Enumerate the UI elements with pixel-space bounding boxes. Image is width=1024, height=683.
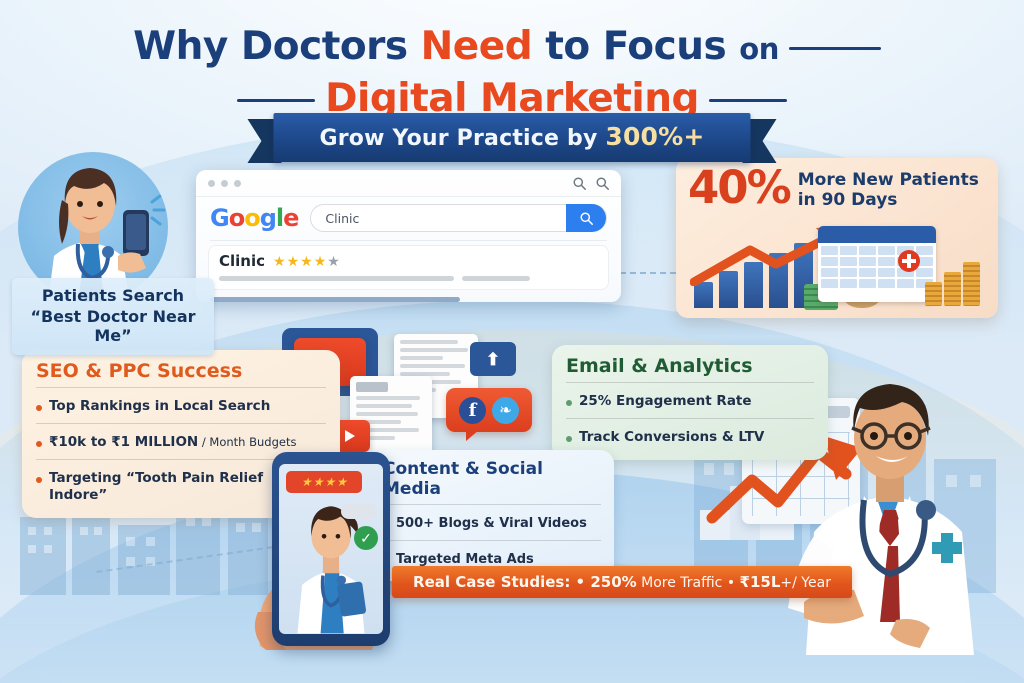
bullet-label: Top Rankings in Local Search <box>49 398 270 415</box>
search-icon[interactable] <box>573 177 586 190</box>
stat-headline-line-1: More New Patients <box>798 170 979 190</box>
chrome-icons[interactable] <box>573 177 609 190</box>
phone-star-1: ★ <box>301 476 312 488</box>
logo-g2: g <box>260 204 276 232</box>
facebook-circle-icon: f <box>459 397 486 424</box>
search-input-value: Clinic <box>325 211 359 226</box>
star-5-empty: ★ <box>327 254 340 268</box>
phone-star-2: ★ <box>313 476 324 488</box>
title-small-word: on <box>739 32 779 66</box>
banner-text: Real Case Studies: • 250% More Traffic •… <box>413 573 831 591</box>
rating-stars: ★ ★ ★ ★ ★ <box>273 254 340 268</box>
logo-o1: o <box>229 204 245 232</box>
review-stars-bubble: ★★★★ <box>286 471 362 493</box>
card-seo-title: SEO & PPC Success <box>36 360 326 382</box>
phone-screen: ★★★★ ✓ <box>279 464 383 634</box>
browser-chrome-bar <box>196 170 621 197</box>
card-content-social: Content & Social Media 500+ Blogs & Vira… <box>370 450 614 581</box>
caption-line-2: “Best Doctor Near Me” <box>18 307 208 345</box>
growth-chart <box>688 216 988 312</box>
stat-panel-40-percent: 40% More New Patients in 90 Days <box>676 158 998 318</box>
phone-star-3: ★ <box>325 476 336 488</box>
list-item: ₹10k to ₹1 MILLION / Month Budgets <box>36 431 326 454</box>
logo-o2: o <box>244 204 260 232</box>
phone-placeholder-pill <box>341 504 377 519</box>
upload-icon: ⬆ <box>470 342 516 376</box>
search-icon-2[interactable] <box>596 177 609 190</box>
medical-cross-icon <box>898 250 920 272</box>
ribbon-banner: Grow Your Practice by 300%+ <box>273 113 750 162</box>
male-doctor-illustration <box>780 370 1010 655</box>
male-doctor-icon <box>780 370 1010 655</box>
list-item: 500+ Blogs & Viral Videos <box>383 512 601 535</box>
coin-stacks-icon <box>925 262 980 306</box>
ribbon-text: Grow Your Practice by <box>319 126 605 151</box>
upload-glyph: ⬆ <box>486 351 500 368</box>
bullet-dot <box>566 436 572 442</box>
window-dot-3[interactable] <box>234 180 241 187</box>
title-rule-right <box>789 47 881 50</box>
divider <box>210 240 607 241</box>
bullet-label: 25% Engagement Rate <box>579 393 752 410</box>
title-rule-left-2 <box>237 99 315 102</box>
divider <box>383 504 601 505</box>
divider <box>566 382 814 383</box>
banner-stat-2: ₹15L <box>740 573 781 591</box>
star-4: ★ <box>314 254 327 268</box>
bullet-dot <box>36 441 42 447</box>
star-2: ★ <box>287 254 300 268</box>
list-item: 25% Engagement Rate <box>566 390 814 413</box>
window-controls[interactable] <box>208 180 241 187</box>
ribbon-body: Grow Your Practice by 300%+ <box>273 113 750 162</box>
bullet-label: Track Conversions & LTV <box>579 429 764 446</box>
social-chat-bubble: f ❧ <box>446 388 532 432</box>
bullet-dot <box>36 477 42 483</box>
search-icon <box>580 212 593 225</box>
calendar-icon <box>818 226 936 302</box>
case-studies-banner: Real Case Studies: • 250% More Traffic •… <box>392 566 852 598</box>
window-dot-1[interactable] <box>208 180 215 187</box>
google-search-mockup[interactable]: Google Clinic Clinic ★ ★ ★ ★ ★ <box>196 170 621 302</box>
patients-search-caption: Patients Search “Best Doctor Near Me” <box>12 278 214 355</box>
title-part-2: to Focus <box>532 24 739 69</box>
banner-stat-1: 250% <box>590 573 636 591</box>
title-line-1: Why Doctors Need to Focus on <box>0 22 1024 74</box>
result-skeleton-bar-1 <box>219 276 454 281</box>
google-logo: Google <box>210 204 298 232</box>
stat-headline: More New Patients in 90 Days <box>798 167 979 210</box>
twitter-icon: ❧ <box>492 397 519 424</box>
banner-mid: More Traffic • <box>637 575 740 591</box>
infographic-root: Why Doctors Need to Focus on Digital Mar… <box>0 0 1024 683</box>
phone-star-4: ★ <box>336 476 347 488</box>
page-title: Why Doctors Need to Focus on Digital Mar… <box>0 22 1024 124</box>
title-rule-right-2 <box>709 99 787 102</box>
bar-1 <box>694 282 713 308</box>
divider <box>36 387 326 388</box>
window-dot-2[interactable] <box>221 180 228 187</box>
bullet-label: 500+ Blogs & Viral Videos <box>396 515 587 532</box>
bullet-dot <box>566 400 572 406</box>
result-title: Clinic <box>219 252 265 270</box>
skeleton-row-1 <box>210 297 460 302</box>
ribbon-stat: 300%+ <box>605 122 704 151</box>
logo-g1: G <box>210 204 229 232</box>
bullet-label: ₹10k to ₹1 MILLION / Month Budgets <box>49 434 296 451</box>
title-highlight: Need <box>421 24 532 69</box>
card-email-title: Email & Analytics <box>566 355 814 377</box>
panel-headline: 40% More New Patients in 90 Days <box>676 158 998 210</box>
stat-headline-line-2: in 90 Days <box>798 190 979 210</box>
search-submit-button[interactable] <box>566 204 606 232</box>
result-skeleton-bar-2 <box>462 276 530 281</box>
bullet-dot <box>36 405 42 411</box>
caption-line-1: Patients Search <box>18 286 208 305</box>
divider <box>566 418 814 419</box>
title-part-1: Why Doctors <box>133 24 421 69</box>
star-1: ★ <box>273 254 286 268</box>
search-input[interactable]: Clinic <box>310 204 607 232</box>
divider <box>36 423 326 424</box>
result-title-row: Clinic ★ ★ ★ ★ ★ <box>219 252 598 270</box>
divider <box>383 540 601 541</box>
facebook-circle-glyph: f <box>469 400 477 421</box>
search-row: Google Clinic <box>196 197 621 238</box>
list-item: Track Conversions & LTV <box>566 426 814 449</box>
banner-suffix: +/ Year <box>780 575 831 591</box>
calendar-grid <box>818 243 936 291</box>
list-item: Top Rankings in Local Search <box>36 395 326 418</box>
banner-label: Real Case Studies: • <box>413 573 590 591</box>
star-3: ★ <box>300 254 313 268</box>
result-skeleton-rows <box>210 297 607 302</box>
phone-mockup[interactable]: ★★★★ ✓ <box>272 452 390 646</box>
check-icon: ✓ <box>354 526 378 550</box>
stat-number: 40% <box>688 167 790 209</box>
twitter-glyph: ❧ <box>499 401 512 419</box>
logo-e: e <box>283 204 298 232</box>
calendar-header <box>818 226 936 243</box>
search-result-card[interactable]: Clinic ★ ★ ★ ★ ★ <box>208 245 609 290</box>
card-content-title: Content & Social Media <box>383 459 601 499</box>
